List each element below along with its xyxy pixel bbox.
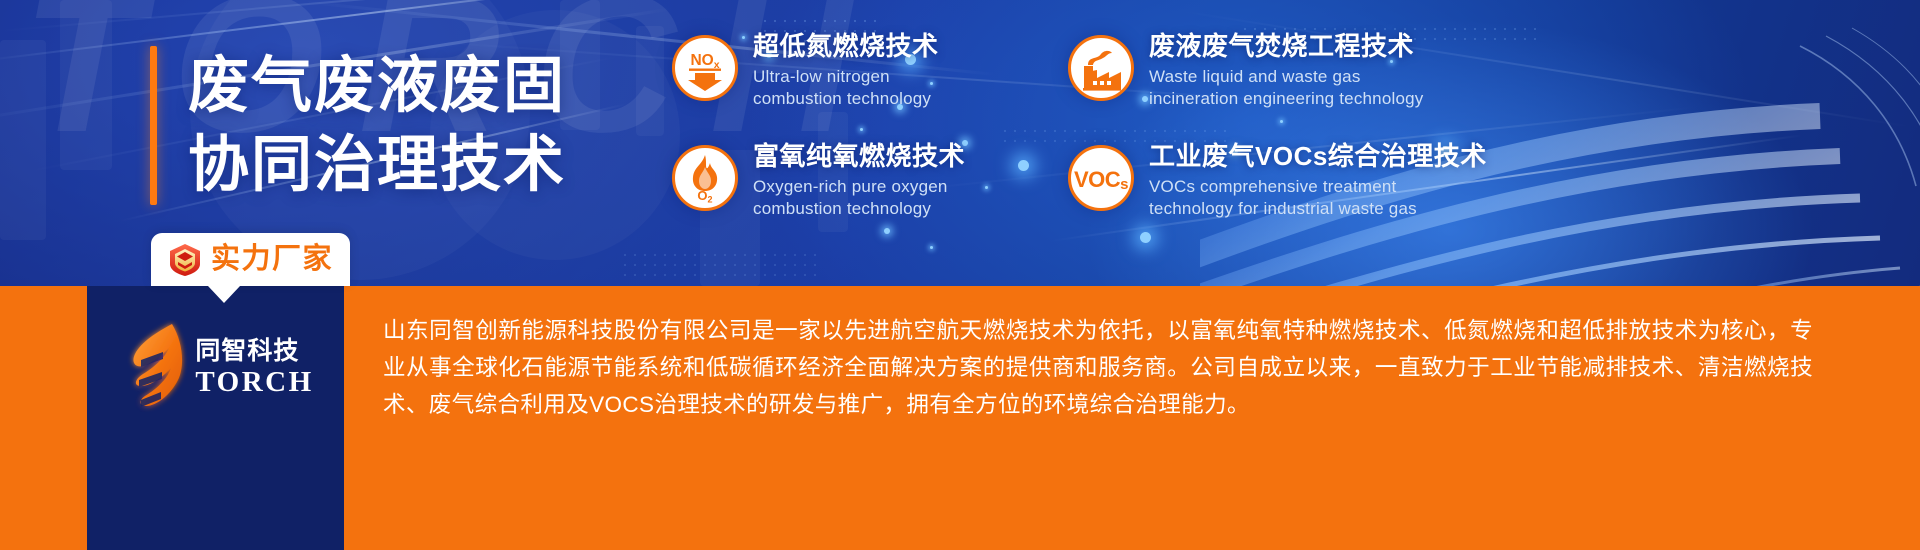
feature-subtitle: VOCs comprehensive treatment technology … bbox=[1149, 176, 1487, 221]
feature-title: 超低氮燃烧技术 bbox=[753, 31, 939, 62]
headline-group: 废气废液废固 协同治理技术 bbox=[150, 46, 566, 205]
company-description: 山东同智创新能源科技股份有限公司是一家以先进航空航天燃烧技术为依托，以富氧纯氧特… bbox=[383, 312, 1813, 423]
feature-text: 废液废气焚烧工程技术 Waste liquid and waste gas in… bbox=[1149, 30, 1423, 111]
shield-medal-icon bbox=[168, 243, 202, 277]
bg-block-shape bbox=[60, 0, 112, 170]
feature-item[interactable]: 废液废气焚烧工程技术 Waste liquid and waste gas in… bbox=[1068, 30, 1450, 136]
feature-item[interactable]: VOCs 工业废气VOCs综合治理技术 VOCs comprehensive t… bbox=[1068, 140, 1450, 246]
feature-item[interactable]: O2 富氧纯氧燃烧技术 Oxygen-rich pure oxygen comb… bbox=[672, 140, 1054, 246]
feature-subtitle-line-1: Oxygen-rich pure oxygen bbox=[753, 176, 965, 198]
feature-text: 工业废气VOCs综合治理技术 VOCs comprehensive treatm… bbox=[1149, 140, 1487, 221]
feature-title: 废液废气焚烧工程技术 bbox=[1149, 31, 1423, 62]
factory-smokestack-icon bbox=[1068, 35, 1134, 101]
feature-text: 富氧纯氧燃烧技术 Oxygen-rich pure oxygen combust… bbox=[753, 140, 965, 221]
feature-subtitle: Ultra-low nitrogen combustion technology bbox=[753, 66, 939, 111]
banner-footer-section: 同智科技 TORCH 山东同智创新能源科技股份有限公司是一家以先进航空航天燃烧技… bbox=[0, 286, 1920, 550]
feature-subtitle-line-1: Ultra-low nitrogen bbox=[753, 66, 939, 88]
feature-title: 富氧纯氧燃烧技术 bbox=[753, 141, 965, 172]
accent-bar bbox=[150, 46, 157, 205]
feature-title: 工业废气VOCs综合治理技术 bbox=[1149, 141, 1487, 172]
feature-grid: NOx 超低氮燃烧技术 Ultra-low nitrogen combustio… bbox=[672, 30, 1450, 246]
badge-pointer bbox=[208, 286, 240, 303]
logo-name-cn: 同智科技 bbox=[195, 339, 313, 364]
flame-o2-icon: O2 bbox=[672, 145, 738, 211]
bg-block-shape bbox=[0, 40, 46, 240]
svg-text:VOCs: VOCs bbox=[1074, 167, 1128, 193]
company-logo[interactable]: 同智科技 TORCH bbox=[87, 320, 344, 416]
headline-line-1: 废气废液废固 bbox=[188, 46, 566, 125]
logo-panel: 同智科技 TORCH bbox=[87, 286, 344, 550]
promo-banner: TORCH bbox=[0, 0, 1920, 550]
glow-particle bbox=[930, 246, 933, 249]
feature-subtitle-line-2: combustion technology bbox=[753, 198, 965, 220]
page-title: 废气废液废固 协同治理技术 bbox=[188, 46, 566, 205]
feature-subtitle-line-1: VOCs comprehensive treatment bbox=[1149, 176, 1487, 198]
feature-subtitle-line-2: technology for industrial waste gas bbox=[1149, 198, 1487, 220]
feature-subtitle: Oxygen-rich pure oxygen combustion techn… bbox=[753, 176, 965, 221]
feature-item[interactable]: NOx 超低氮燃烧技术 Ultra-low nitrogen combustio… bbox=[672, 30, 1054, 136]
logo-name-en: TORCH bbox=[195, 368, 313, 397]
feature-text: 超低氮燃烧技术 Ultra-low nitrogen combustion te… bbox=[753, 30, 939, 111]
feature-subtitle-line-2: combustion technology bbox=[753, 88, 939, 110]
vocs-text-icon: VOCs bbox=[1068, 145, 1134, 211]
bg-dot-grid bbox=[620, 250, 820, 276]
torch-flame-icon bbox=[117, 320, 191, 416]
feature-subtitle: Waste liquid and waste gas incineration … bbox=[1149, 66, 1423, 111]
feature-subtitle-line-1: Waste liquid and waste gas bbox=[1149, 66, 1423, 88]
feature-subtitle-line-2: incineration engineering technology bbox=[1149, 88, 1423, 110]
badge-label: 实力厂家 bbox=[211, 245, 333, 274]
svg-text:O2: O2 bbox=[697, 188, 712, 203]
strength-manufacturer-badge[interactable]: 实力厂家 bbox=[151, 233, 350, 286]
svg-text:NOx: NOx bbox=[690, 52, 719, 71]
headline-line-2: 协同治理技术 bbox=[188, 125, 566, 204]
nox-down-arrow-icon: NOx bbox=[672, 35, 738, 101]
logo-wordmark: 同智科技 TORCH bbox=[195, 339, 313, 397]
